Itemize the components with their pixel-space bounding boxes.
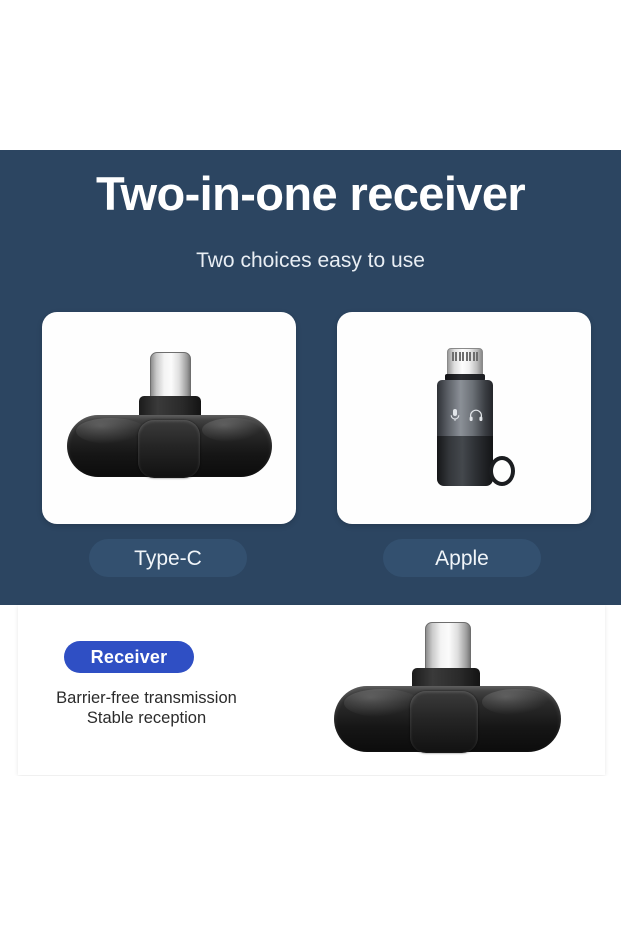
option-label-text: Type-C [134, 548, 202, 569]
microphone-icon [449, 408, 461, 422]
feature-line-2: Stable reception [24, 708, 269, 728]
feature-description: Barrier-free transmission Stable recepti… [24, 688, 269, 728]
feature-line-1: Barrier-free transmission [24, 688, 269, 708]
type-c-adapter-image [42, 312, 296, 524]
product-card-type-c[interactable] [42, 312, 296, 524]
apple-adapter-image [337, 312, 591, 524]
option-label-apple[interactable]: Apple [383, 539, 541, 577]
bottom-whitespace [0, 776, 621, 931]
receiver-badge: Receiver [64, 641, 194, 673]
headphone-icon [469, 408, 483, 422]
page-subtitle: Two choices easy to use [0, 247, 621, 275]
page-title: Two-in-one receiver [0, 166, 621, 222]
top-whitespace [0, 0, 621, 150]
option-label-text: Apple [435, 548, 489, 569]
option-label-type-c[interactable]: Type-C [89, 539, 247, 577]
product-card-apple[interactable] [337, 312, 591, 524]
feature-type-c-adapter-image [318, 607, 605, 775]
receiver-badge-text: Receiver [91, 648, 168, 666]
